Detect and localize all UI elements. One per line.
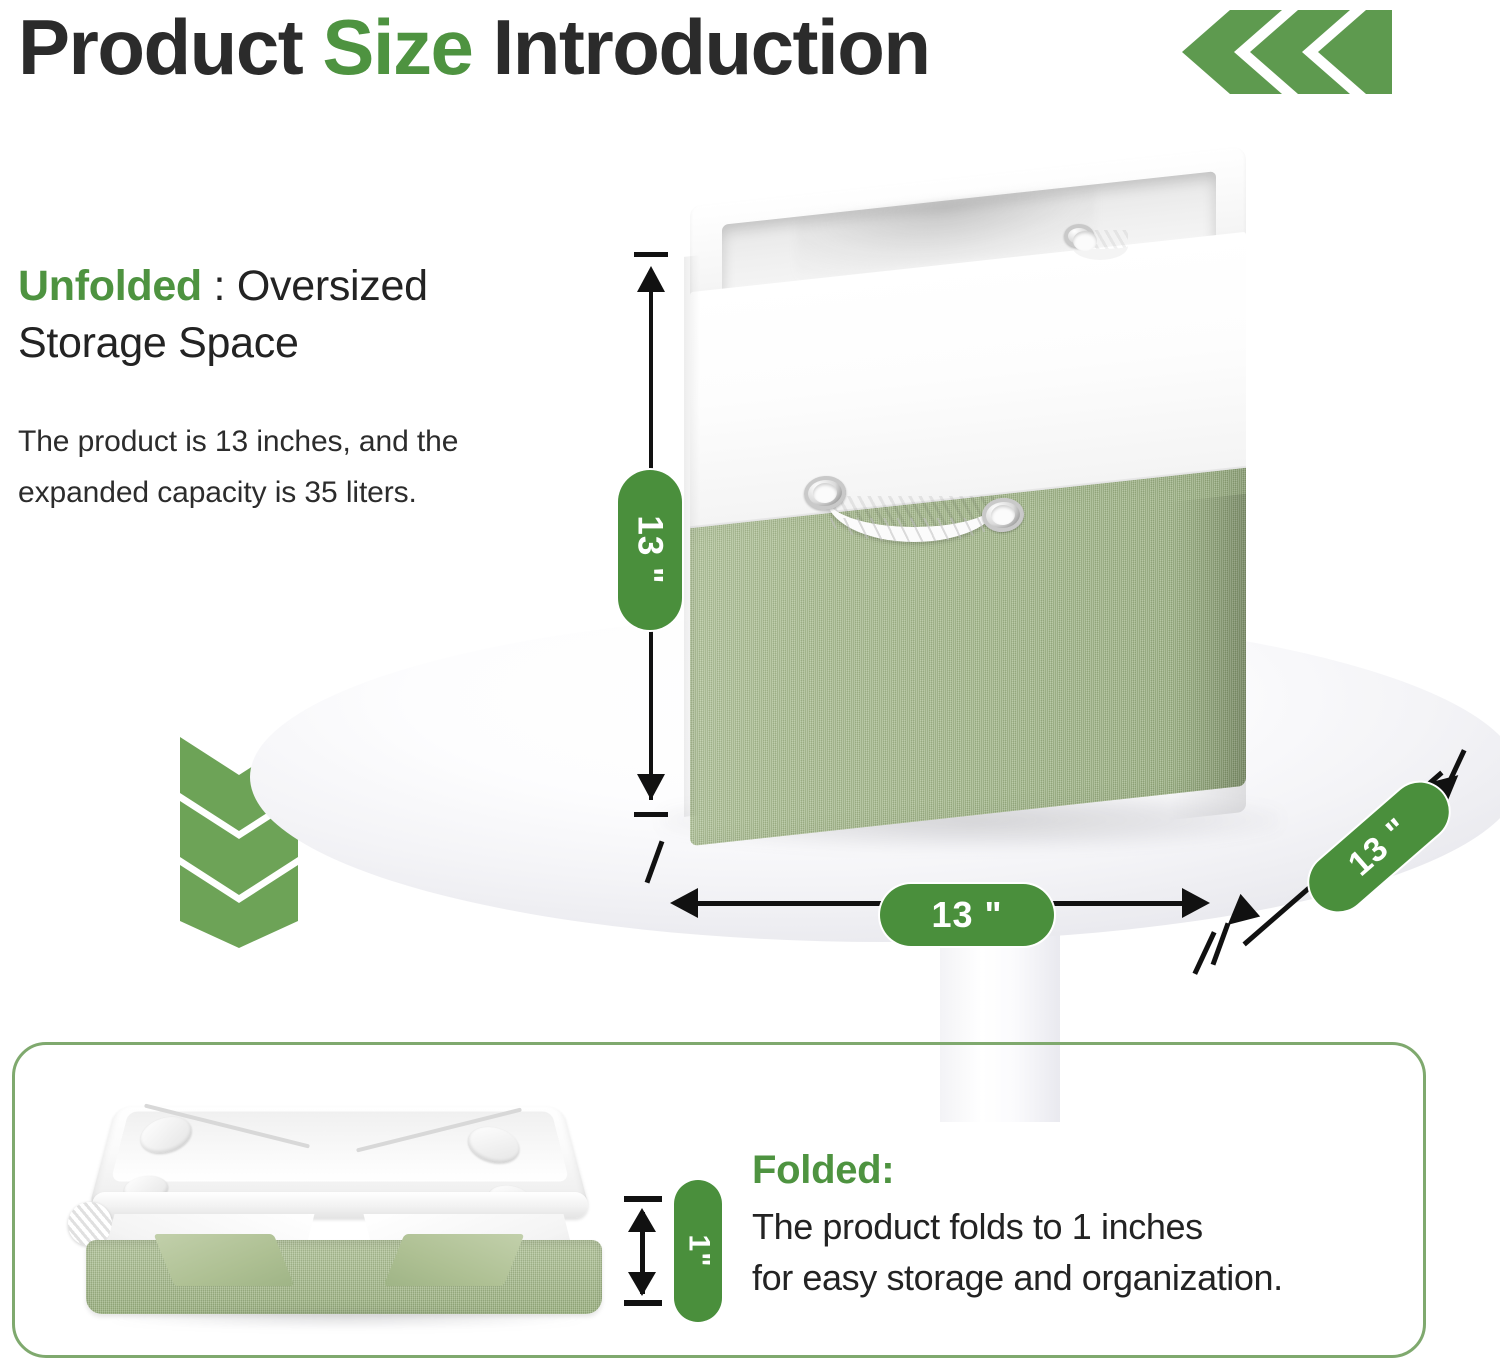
metal-grommet-icon [1064, 224, 1094, 248]
unfolded-body-text: The product is 13 inches, and the expand… [18, 416, 558, 519]
basket-left-face-shading [684, 255, 700, 817]
unfolded-heading-accent: Unfolded [18, 262, 202, 310]
title-part-1: Product [18, 3, 322, 91]
rope-handle-icon [804, 476, 1016, 538]
folded-copy-block: Folded: The product folds to 1 inches fo… [752, 1148, 1412, 1303]
title-accent-word: Size [322, 3, 472, 91]
unfolded-heading-separator: : [202, 262, 237, 310]
thickness-dimension-arrow [616, 1196, 670, 1308]
thickness-badge: 1" [674, 1180, 722, 1322]
folded-green-crease-left [153, 1234, 294, 1286]
folded-shadow [112, 1308, 582, 1328]
header: Product Size Introduction [0, 0, 1500, 110]
height-badge: 13 " [618, 470, 682, 630]
height-badge-label: 13 " [630, 515, 670, 584]
chevron-left-triple-icon [1172, 8, 1392, 96]
unfolded-heading: Unfolded : Oversized Storage Space [18, 258, 558, 372]
unfolded-heading-rest: Oversized [237, 262, 428, 310]
storage-basket-unfolded [676, 176, 1244, 816]
folded-heading: Folded: [752, 1148, 1412, 1193]
thickness-badge-label: 1" [681, 1235, 715, 1268]
folded-green-crease-right [383, 1234, 524, 1286]
page-title: Product Size Introduction [18, 2, 930, 93]
dimension-tick-top [624, 1196, 662, 1202]
folded-body-line-2: for easy storage and organization. [752, 1257, 1283, 1298]
folded-body-line-1: The product folds to 1 inches [752, 1206, 1203, 1247]
rope-handle-back-icon [1064, 224, 1142, 270]
dimension-tick-top [634, 252, 668, 257]
arrowhead-up [637, 266, 665, 292]
arrowhead-down [628, 1272, 656, 1296]
width-badge: 13 " [880, 884, 1054, 946]
unfolded-copy-block: Unfolded : Oversized Storage Space The p… [18, 258, 558, 519]
arrowhead-right [1182, 888, 1210, 918]
dimension-tick-bottom [634, 812, 668, 817]
unfolded-heading-line2: Storage Space [18, 319, 299, 367]
arrowhead-up [628, 1208, 656, 1232]
infographic-root: Product Size Introduction Unfolded : Ove… [0, 0, 1500, 1371]
arrowhead-left [670, 888, 698, 918]
width-badge-label: 13 " [931, 894, 1002, 936]
folded-body-text: The product folds to 1 inches for easy s… [752, 1201, 1412, 1303]
arrowhead-down-left [1218, 894, 1260, 936]
dimension-tick-bottom [624, 1300, 662, 1306]
arrowhead-down [637, 774, 665, 800]
storage-basket-folded [64, 1094, 624, 1314]
title-part-2: Introduction [472, 3, 929, 91]
